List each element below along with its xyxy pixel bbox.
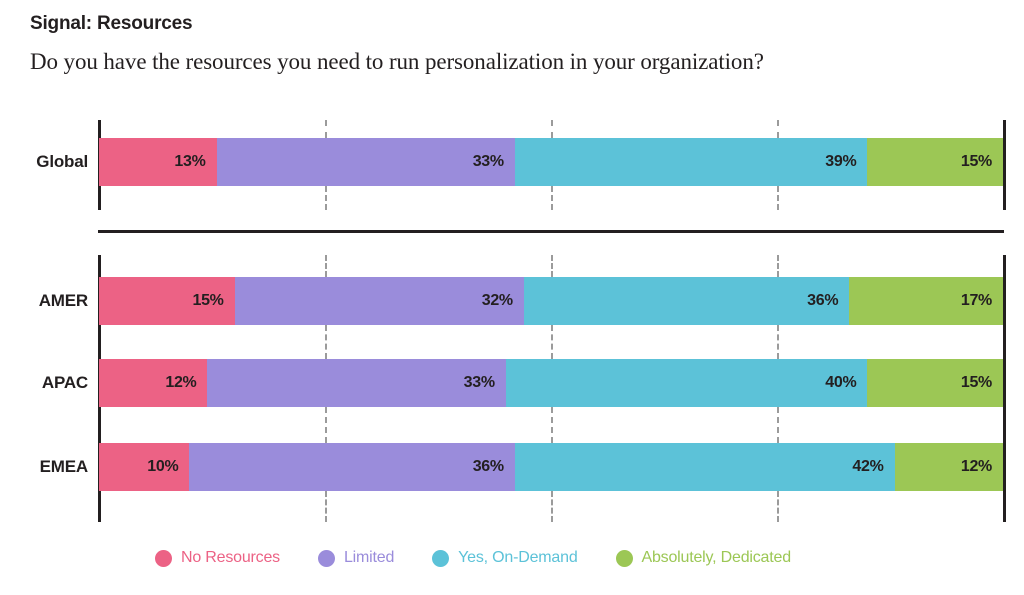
gridline-25pct: [325, 186, 327, 210]
bar-segment: 39%: [515, 138, 868, 186]
gridline-75pct: [777, 407, 779, 443]
gridline-50pct: [551, 186, 553, 210]
legend-label: Limited: [344, 549, 394, 567]
bar-segment: 15%: [867, 138, 1003, 186]
chart-row-emea: EMEA10%36%42%12%: [0, 443, 1024, 491]
bar-segment: 15%: [867, 359, 1003, 407]
bar-segment: 10%: [99, 443, 189, 491]
stacked-bar-apac: 12%33%40%15%: [99, 359, 1003, 407]
gridline-50pct: [551, 255, 553, 277]
legend-swatch-circle-icon: [318, 550, 335, 567]
legend-label: Absolutely, Dedicated: [642, 549, 791, 567]
gridline-75pct: [777, 325, 779, 359]
gridline-25pct: [325, 120, 327, 138]
stacked-bar-global: 13%33%39%15%: [99, 138, 1003, 186]
gridline-50pct: [551, 407, 553, 443]
gridline-25pct: [325, 491, 327, 522]
chart-plot-area: Global13%33%39%15%AMER15%32%36%17%APAC12…: [0, 0, 1024, 595]
gridline-50pct: [551, 491, 553, 522]
legend-swatch-circle-icon: [616, 550, 633, 567]
chart-row-apac: APAC12%33%40%15%: [0, 359, 1024, 407]
gridline-75pct: [777, 186, 779, 210]
bar-segment: 36%: [189, 443, 514, 491]
gridline-75pct: [777, 255, 779, 277]
group-separator: [98, 230, 1004, 233]
legend-swatch-circle-icon: [155, 550, 172, 567]
stacked-bar-amer: 15%32%36%17%: [99, 277, 1003, 325]
gridline-75pct: [777, 491, 779, 522]
bar-segment: 17%: [849, 277, 1003, 325]
legend-item[interactable]: Absolutely, Dedicated: [616, 549, 791, 567]
legend-label: Yes, On-Demand: [458, 549, 577, 567]
bar-segment: 13%: [99, 138, 217, 186]
gridline-25pct: [325, 325, 327, 359]
bar-segment: 33%: [217, 138, 515, 186]
gridline-50pct: [551, 120, 553, 138]
bar-segment: 33%: [207, 359, 505, 407]
row-label-global: Global: [0, 138, 88, 186]
legend-swatch-circle-icon: [432, 550, 449, 567]
gridline-75pct: [777, 120, 779, 138]
bar-segment: 32%: [235, 277, 524, 325]
legend-item[interactable]: Limited: [318, 549, 394, 567]
legend-item[interactable]: Yes, On-Demand: [432, 549, 577, 567]
bar-segment: 36%: [524, 277, 849, 325]
chart-row-amer: AMER15%32%36%17%: [0, 277, 1024, 325]
legend-label: No Resources: [181, 549, 280, 567]
gridline-50pct: [551, 325, 553, 359]
gridline-25pct: [325, 407, 327, 443]
row-label-apac: APAC: [0, 359, 88, 407]
row-label-amer: AMER: [0, 277, 88, 325]
bar-segment: 12%: [895, 443, 1003, 491]
bar-segment: 40%: [506, 359, 868, 407]
stacked-bar-emea: 10%36%42%12%: [99, 443, 1003, 491]
bar-segment: 42%: [515, 443, 895, 491]
bar-segment: 12%: [99, 359, 207, 407]
chart-row-global: Global13%33%39%15%: [0, 138, 1024, 186]
row-label-emea: EMEA: [0, 443, 88, 491]
legend-item[interactable]: No Resources: [155, 549, 280, 567]
bar-segment: 15%: [99, 277, 235, 325]
gridline-25pct: [325, 255, 327, 277]
chart-legend: No ResourcesLimitedYes, On-DemandAbsolut…: [155, 544, 829, 572]
